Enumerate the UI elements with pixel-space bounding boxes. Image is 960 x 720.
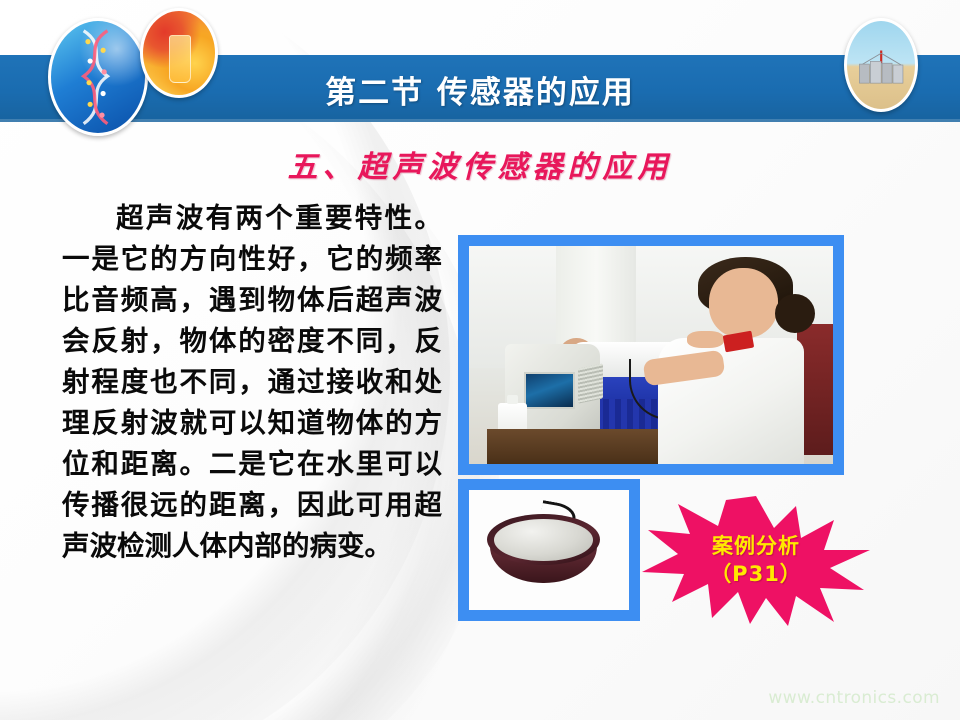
- food-juice-circle-icon: [140, 8, 218, 98]
- transducer-photo-frame: [458, 479, 640, 621]
- dna-lab-circle-icon: [48, 18, 148, 136]
- case-study-callout[interactable]: 案例分析 （P31）: [638, 492, 874, 628]
- starburst-shape-icon: [638, 492, 874, 628]
- doctor-head: [709, 268, 778, 338]
- wooden-desk: [487, 429, 676, 464]
- ultrasound-exam-photo: [469, 246, 833, 464]
- juice-glass-icon: [169, 35, 191, 84]
- body-paragraph: 超声波有两个重要特性。一是它的方向性好，它的频率比音频高，遇到物体后超声波会反射…: [62, 198, 442, 567]
- transducer-scene: [469, 490, 629, 610]
- ultrasound-screen: [524, 372, 575, 409]
- site-watermark: www.cntronics.com: [768, 688, 940, 708]
- silo-tanks-icon: [854, 44, 908, 93]
- ultrasound-exam-photo-frame: [458, 235, 844, 475]
- doctor-hand-with-probe: [687, 331, 723, 348]
- grain-silo-circle-icon: [844, 18, 918, 112]
- transducer-face-disc: [494, 519, 593, 561]
- ultrasonic-transducer-photo: [469, 490, 629, 610]
- dna-helix-icon: [75, 28, 118, 127]
- presentation-slide: 第二节 传感器的应用 五、超声波传感器的应用 超声波有两个重要特性。一是它的方向…: [0, 0, 960, 720]
- exam-scene: [469, 246, 833, 464]
- machine-keypad: [578, 363, 603, 403]
- transducer-assembly: [482, 507, 616, 598]
- section-subtitle: 五、超声波传感器的应用: [0, 142, 960, 186]
- doctor-ponytail: [775, 294, 815, 333]
